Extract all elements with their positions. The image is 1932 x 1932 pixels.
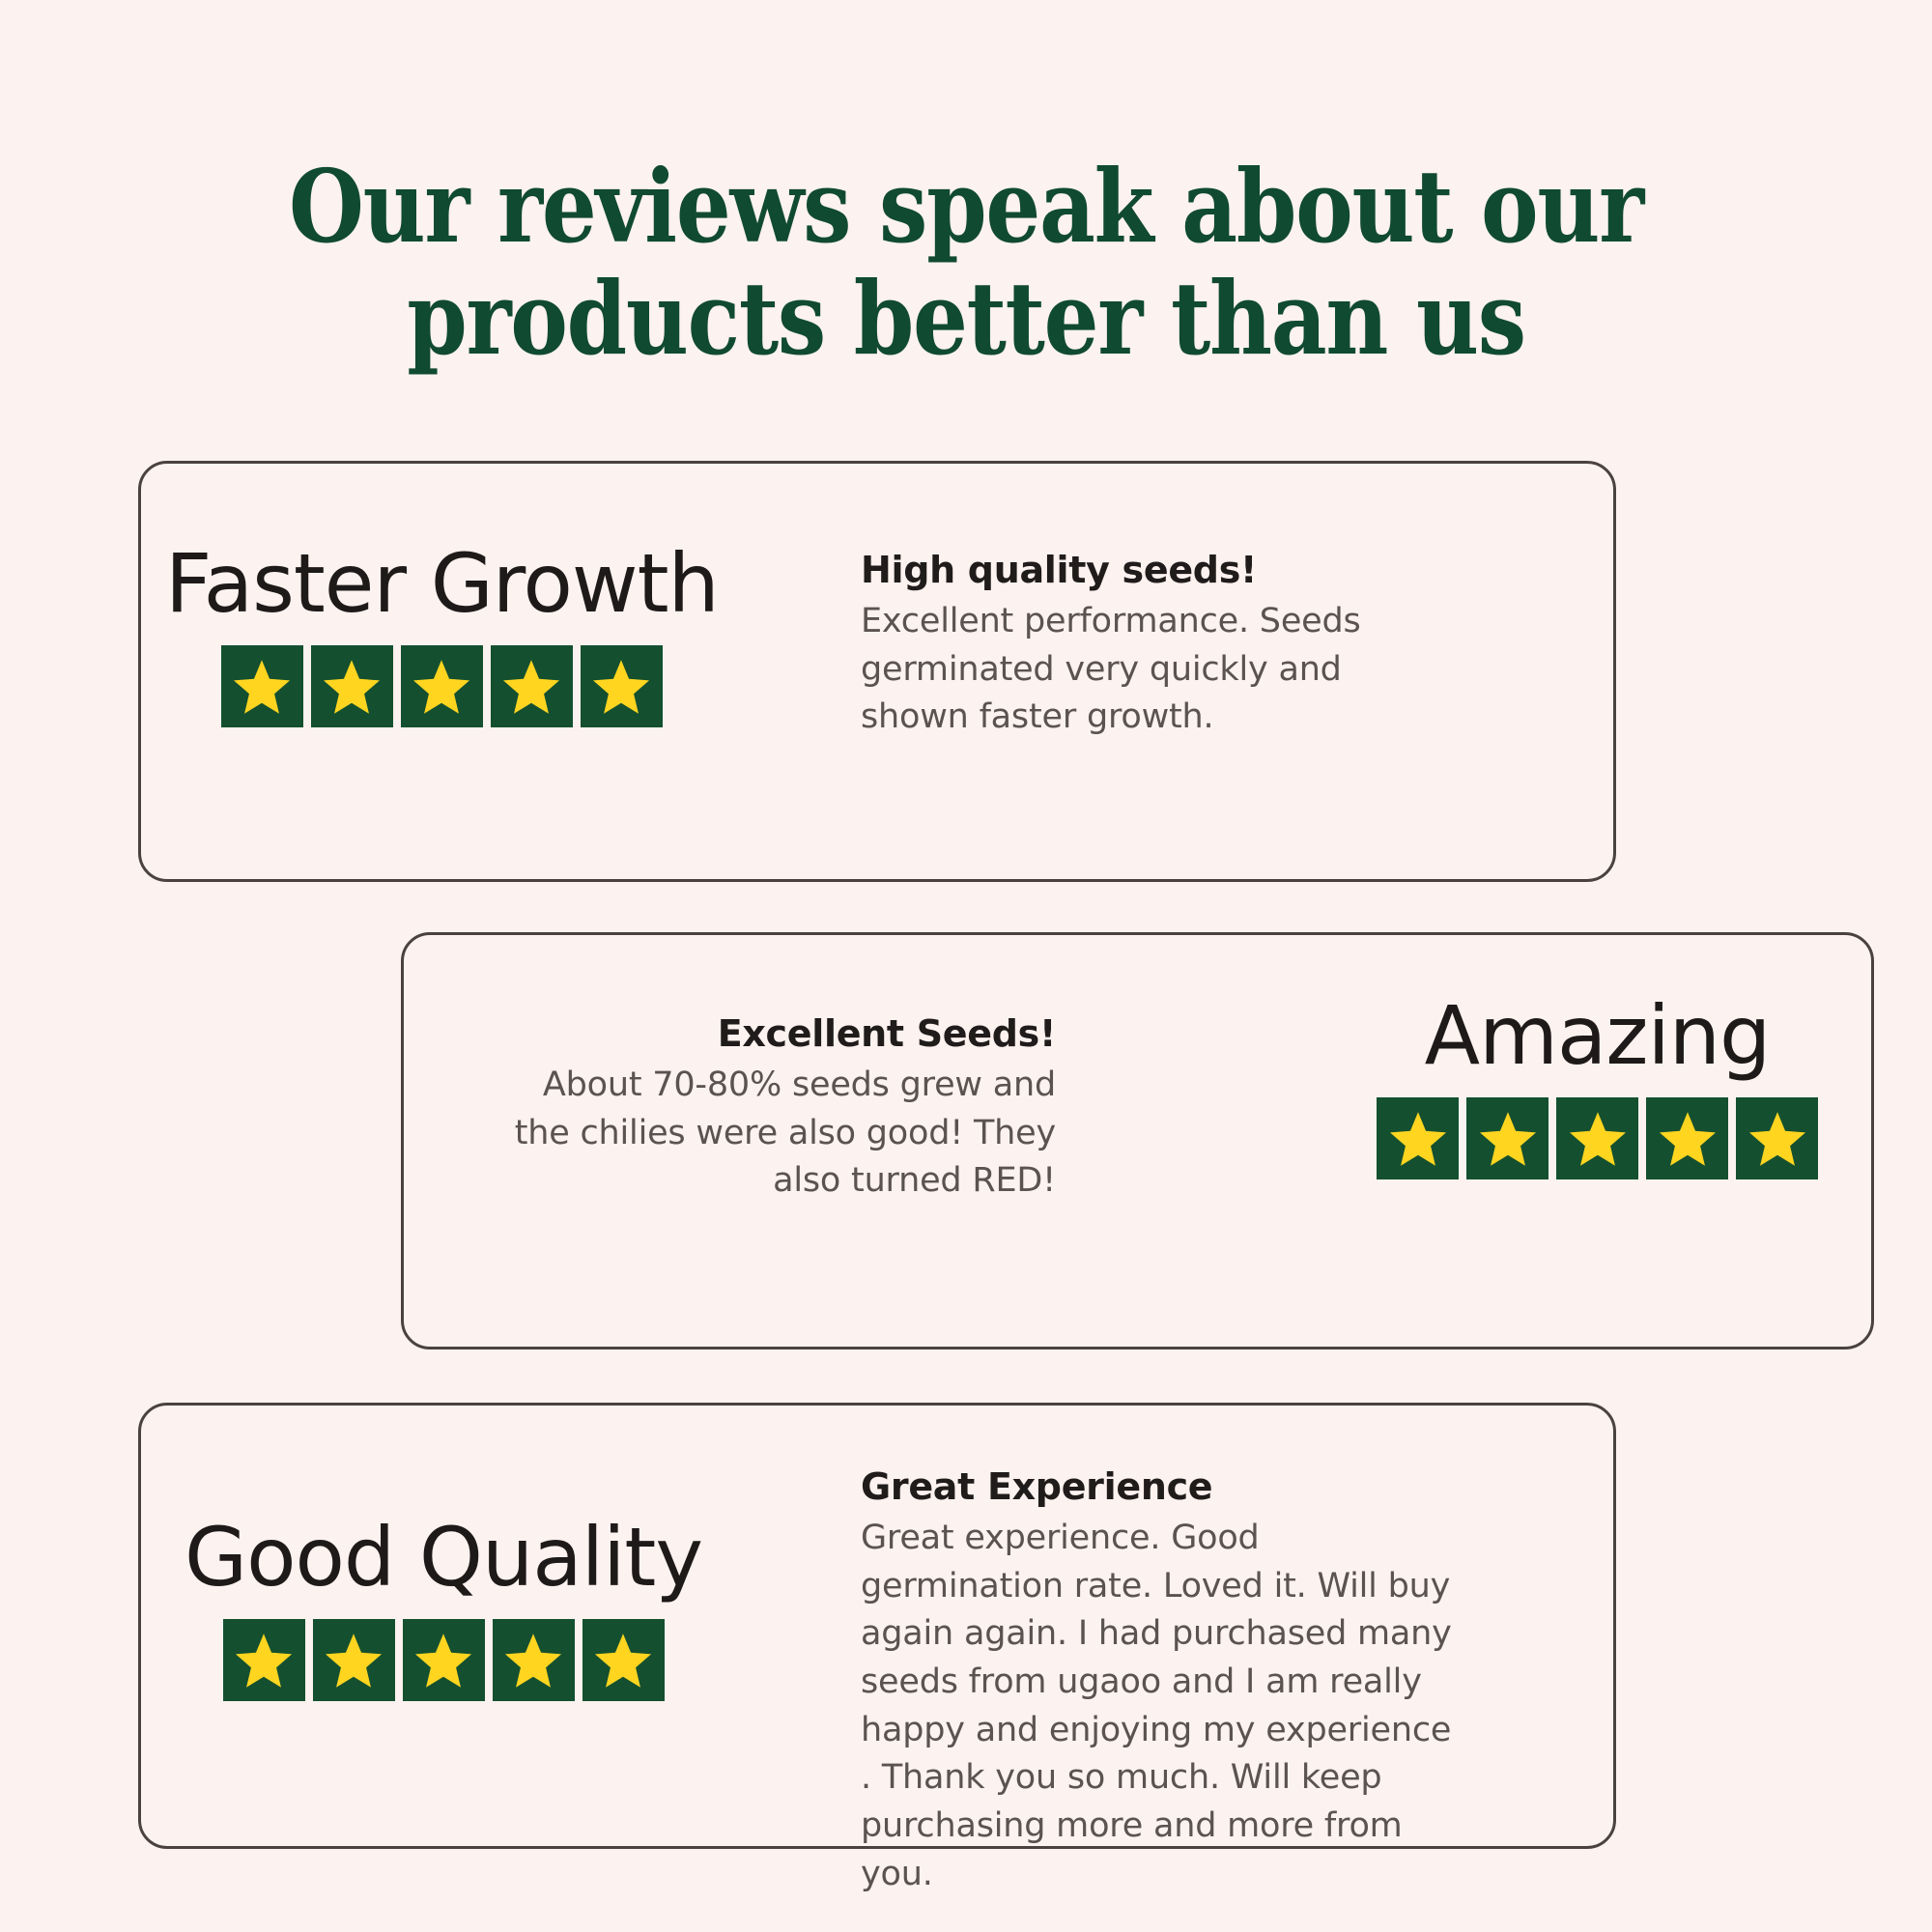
review-card: Good Quality Great Experience Great expe… — [138, 1403, 1616, 1849]
review-text-block: Excellent Seeds! About 70-80% seeds grew… — [491, 1012, 1056, 1206]
star-box — [1377, 1097, 1459, 1179]
star-box — [493, 1619, 575, 1701]
star-icon — [1656, 1107, 1719, 1171]
star-box — [1556, 1097, 1638, 1179]
star-icon — [322, 1629, 385, 1692]
star-icon — [1746, 1107, 1809, 1171]
star-box — [1736, 1097, 1818, 1179]
star-icon — [232, 1629, 296, 1692]
star-box — [581, 645, 663, 727]
review-title: Great Experience — [861, 1465, 1469, 1509]
star-box — [223, 1619, 305, 1701]
star-rating — [165, 645, 719, 727]
rating-block: Good Quality — [185, 1517, 702, 1701]
star-icon — [230, 655, 294, 719]
rating-block: Faster Growth — [165, 543, 719, 727]
star-rating — [1377, 1097, 1818, 1179]
reviews-testimonial-page: { "heading": { "line1": "Our reviews spe… — [0, 0, 1932, 1932]
review-card-inner: Excellent Seeds! About 70-80% seeds grew… — [404, 935, 1871, 1347]
review-card-inner: Good Quality Great Experience Great expe… — [141, 1406, 1613, 1846]
star-box — [403, 1619, 485, 1701]
star-icon — [501, 1629, 565, 1692]
review-text-block: High quality seeds! Excellent performanc… — [861, 549, 1440, 742]
star-box — [401, 645, 483, 727]
star-box — [313, 1619, 395, 1701]
star-icon — [1386, 1107, 1450, 1171]
star-box — [582, 1619, 665, 1701]
review-title: High quality seeds! — [861, 549, 1440, 592]
review-body: About 70-80% seeds grew and the chilies … — [491, 1062, 1056, 1206]
review-body: Great experience. Good germination rate.… — [861, 1515, 1469, 1899]
star-icon — [320, 655, 384, 719]
star-icon — [499, 655, 563, 719]
review-title: Excellent Seeds! — [491, 1012, 1056, 1056]
review-text-block: Great Experience Great experience. Good … — [861, 1465, 1469, 1898]
star-icon — [1566, 1107, 1630, 1171]
star-box — [491, 645, 573, 727]
star-icon — [412, 1629, 475, 1692]
star-box — [221, 645, 303, 727]
star-icon — [410, 655, 473, 719]
page-title-line-1: Our reviews speak about our — [135, 151, 1797, 263]
rating-label: Faster Growth — [165, 543, 719, 624]
page-title: Our reviews speak about our products bet… — [135, 151, 1797, 376]
star-box — [1466, 1097, 1548, 1179]
rating-block: Amazing — [1377, 995, 1818, 1179]
review-card-inner: Faster Growth High quality seeds! Excell… — [141, 464, 1613, 879]
star-icon — [589, 655, 653, 719]
review-card: Faster Growth High quality seeds! Excell… — [138, 461, 1616, 882]
rating-label: Amazing — [1377, 995, 1818, 1076]
star-icon — [591, 1629, 655, 1692]
star-box — [1646, 1097, 1728, 1179]
star-icon — [1476, 1107, 1540, 1171]
rating-label: Good Quality — [185, 1517, 702, 1598]
review-card: Excellent Seeds! About 70-80% seeds grew… — [401, 932, 1874, 1350]
star-box — [311, 645, 393, 727]
review-body: Excellent performance. Seeds germinated … — [861, 598, 1440, 742]
star-rating — [185, 1619, 702, 1701]
page-title-line-2: products better than us — [135, 263, 1797, 375]
